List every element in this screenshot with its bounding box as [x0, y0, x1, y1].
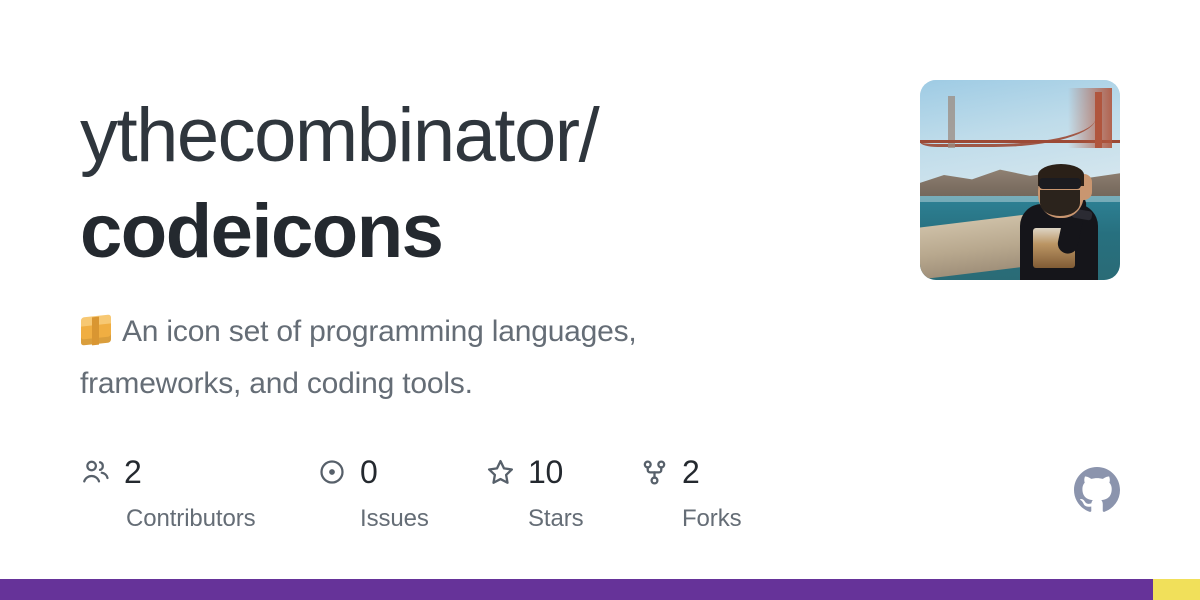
- language-bar: [0, 579, 1200, 600]
- issue-opened-icon: [316, 456, 348, 488]
- stat-value: 2: [682, 456, 700, 488]
- avatar[interactable]: [920, 80, 1120, 280]
- star-icon: [484, 456, 516, 488]
- stat-stars[interactable]: 10 Stars: [484, 452, 584, 532]
- stat-issues[interactable]: 0 Issues: [316, 452, 429, 532]
- language-segment-primary: [0, 579, 1153, 600]
- package-emoji: [80, 314, 114, 348]
- stat-label: Forks: [638, 506, 742, 532]
- stat-contributors[interactable]: 2 Contributors: [80, 452, 256, 532]
- repo-name[interactable]: codeicons: [80, 184, 880, 280]
- stat-value: 2: [124, 456, 142, 488]
- avatar-person-beard: [1040, 190, 1080, 216]
- stat-label: Issues: [316, 506, 429, 532]
- repo-description-text: An icon set of programming languages, fr…: [80, 315, 637, 400]
- github-mark-icon: [1074, 467, 1120, 513]
- people-icon: [80, 456, 112, 488]
- avatar-person-sunglasses: [1039, 178, 1081, 189]
- repository-social-card: ythecombinator/ codeicons An icon set of…: [0, 0, 1200, 600]
- stat-label: Contributors: [80, 506, 256, 532]
- stat-label: Stars: [484, 506, 584, 532]
- repo-stats: 2 Contributors 0 Issues: [80, 452, 780, 542]
- stat-value: 10: [528, 456, 563, 488]
- repo-description: An icon set of programming languages, fr…: [80, 306, 740, 410]
- repo-owner[interactable]: ythecombinator/: [80, 88, 880, 184]
- fork-icon: [638, 456, 670, 488]
- page-title: ythecombinator/ codeicons: [80, 88, 880, 280]
- stat-value: 0: [360, 456, 378, 488]
- language-segment-secondary: [1153, 579, 1200, 600]
- avatar-bridge-span: [1068, 88, 1112, 148]
- stat-forks[interactable]: 2 Forks: [638, 452, 742, 532]
